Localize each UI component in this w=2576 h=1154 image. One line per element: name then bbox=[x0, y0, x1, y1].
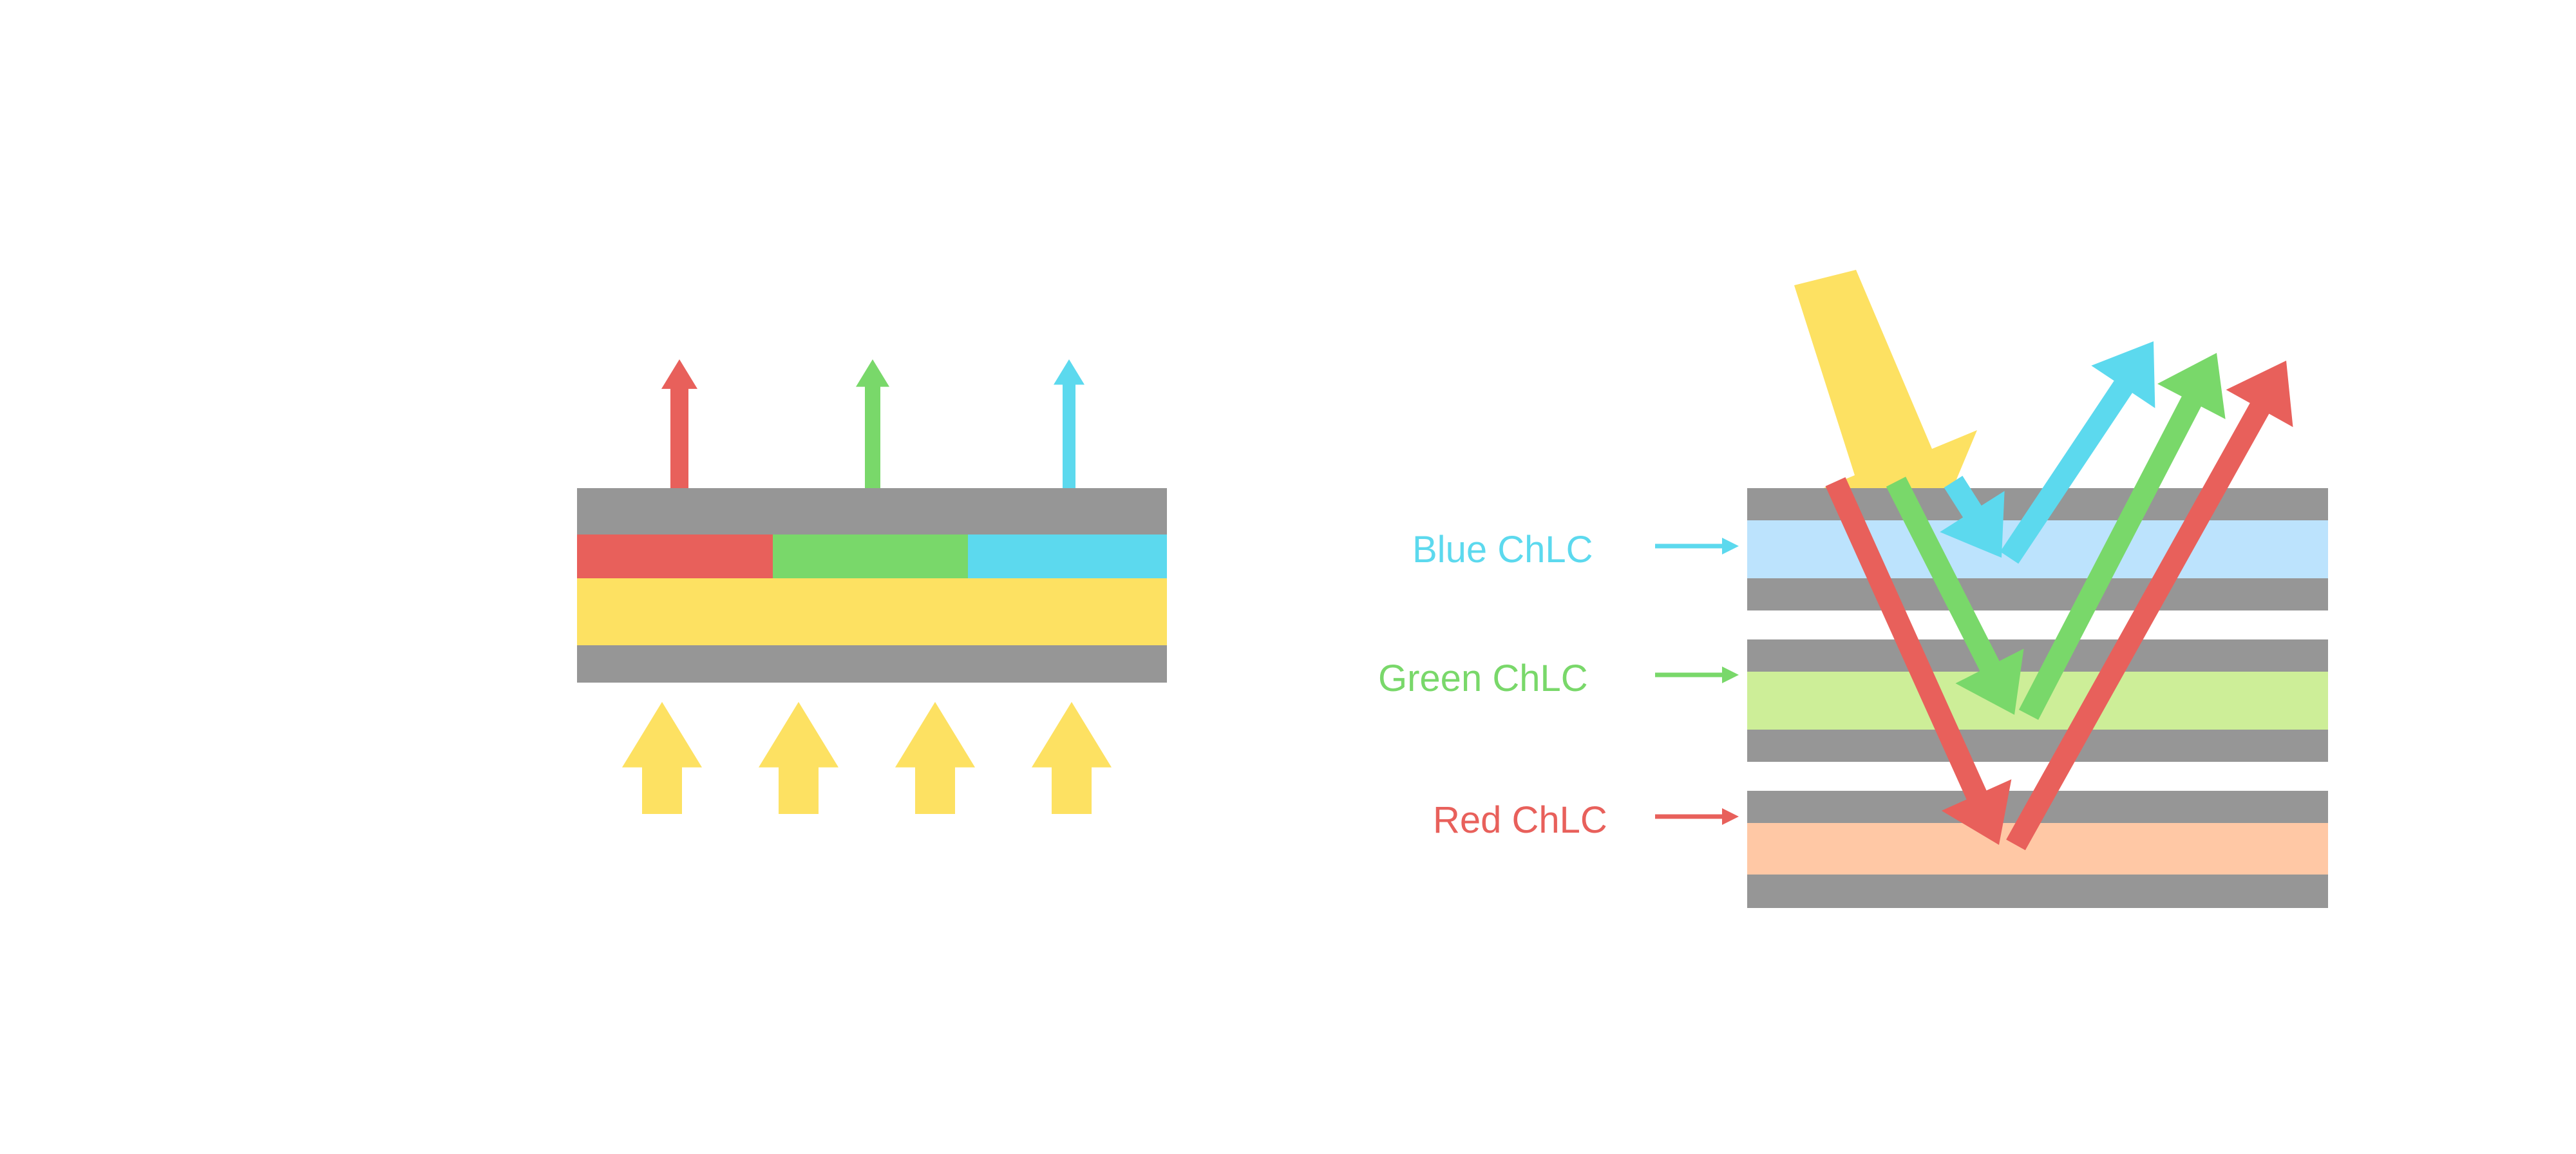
label-green-chlc: Green ChLC bbox=[1378, 657, 1588, 700]
bottom-electrode bbox=[577, 645, 1167, 683]
color-filter-green bbox=[773, 534, 968, 578]
label-blue-chlc: Blue ChLC bbox=[1412, 528, 1593, 571]
green-chlc-cell-pointer-arrow-icon bbox=[1722, 667, 1739, 683]
backlight-arrow-2 bbox=[759, 702, 838, 814]
color-filter-blue bbox=[968, 534, 1167, 578]
red-chlc-cell-liquid-crystal bbox=[1747, 823, 2328, 875]
color-filter-red bbox=[577, 534, 773, 578]
top-electrode bbox=[577, 488, 1167, 534]
blue-chlc-cell-bottom-electrode bbox=[1747, 578, 2328, 610]
blue-chlc-cell-pointer-arrow-icon bbox=[1722, 538, 1739, 554]
label-red-chlc: Red ChLC bbox=[1433, 799, 1607, 842]
red-chlc-cell-bottom-electrode bbox=[1747, 875, 2328, 908]
green-chlc-cell-bottom-electrode bbox=[1747, 730, 2328, 762]
diagram-svg bbox=[0, 0, 2576, 1154]
green-chlc-cell-top-electrode bbox=[1747, 639, 2328, 672]
red-chlc-cell-pointer-arrow-icon bbox=[1722, 808, 1739, 825]
backlight-arrow-4 bbox=[1032, 702, 1112, 814]
backlight-layer bbox=[577, 578, 1167, 645]
figure-canvas bbox=[0, 0, 2576, 1154]
backlight-arrow-1 bbox=[622, 702, 702, 814]
backlight-arrow-3 bbox=[895, 702, 975, 814]
